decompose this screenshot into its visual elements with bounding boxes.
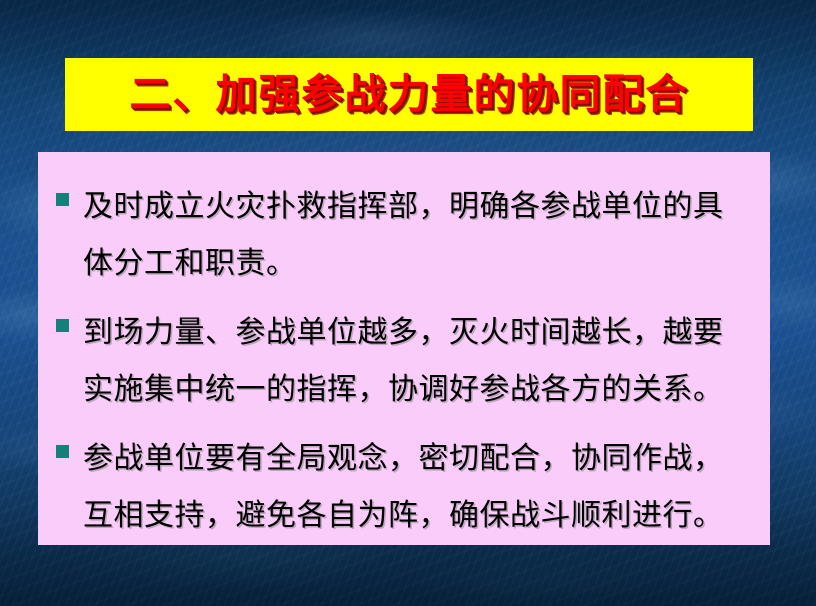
bullet-item-2-text: 到场力量、参战单位越多，灭火时间越长，越要实施集中统一的指挥，协调好参战各方的关… [83,304,752,418]
slide-title-banner: 二、加强参战力量的协同配合 [65,58,753,131]
square-bullet-icon [56,319,69,332]
bullet-item-1: 及时成立火灾扑救指挥部，明确各参战单位的具体分工和职责。 [48,178,752,292]
bullet-item-2: 到场力量、参战单位越多，灭火时间越长，越要实施集中统一的指挥，协调好参战各方的关… [48,304,752,418]
square-bullet-icon [56,445,69,458]
slide-content-panel: 及时成立火灾扑救指挥部，明确各参战单位的具体分工和职责。 到场力量、参战单位越多… [38,152,770,545]
bullet-item-3-text: 参战单位要有全局观念，密切配合，协同作战，互相支持，避免各自为阵，确保战斗顺利进… [83,430,752,544]
slide-title-text: 二、加强参战力量的协同配合 [130,74,689,115]
bullet-item-1-text: 及时成立火灾扑救指挥部，明确各参战单位的具体分工和职责。 [83,178,752,292]
square-bullet-icon [56,193,69,206]
presentation-slide: 二、加强参战力量的协同配合 及时成立火灾扑救指挥部，明确各参战单位的具体分工和职… [0,0,816,606]
bullet-item-3: 参战单位要有全局观念，密切配合，协同作战，互相支持，避免各自为阵，确保战斗顺利进… [48,430,752,544]
